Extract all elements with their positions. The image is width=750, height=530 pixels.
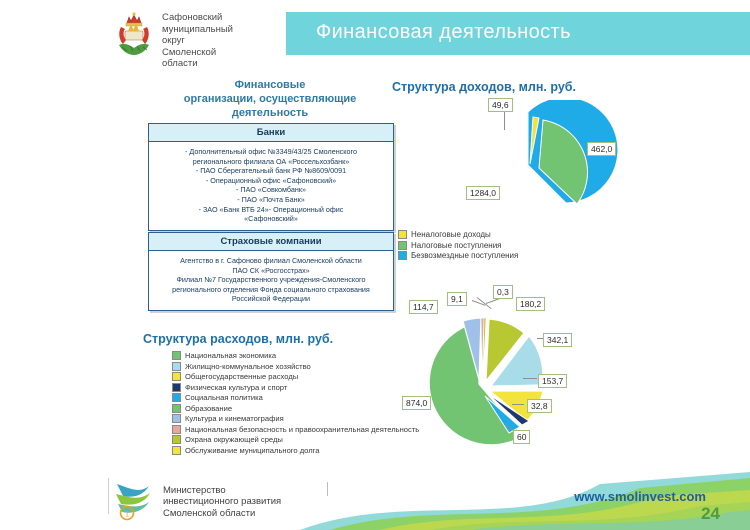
- banks-row: - Операционный офис «Сафоновский»: [153, 176, 389, 186]
- legend-swatch-icon: [172, 435, 181, 444]
- legend-label: Национальная безопасность и правоохранит…: [185, 425, 419, 434]
- insurance-table-body: Агентство в г. Сафоново филиал Смоленско…: [149, 251, 393, 310]
- legend-label: Культура и кинематография: [185, 414, 284, 423]
- insurance-row: регионального отделения Фонда социальног…: [153, 285, 389, 295]
- legend-swatch-icon: [398, 230, 407, 239]
- legend-swatch-icon: [172, 383, 181, 392]
- legend-label: Физическая культура и спорт: [185, 383, 287, 392]
- legend-item: Национальная экономика: [172, 351, 419, 360]
- legend-item: Безвозмездные поступления: [398, 251, 518, 260]
- footer-divider: [108, 478, 109, 514]
- legend-swatch-icon: [172, 446, 181, 455]
- income-chart-legend: Неналоговые доходы Налоговые поступления…: [398, 230, 518, 262]
- ministry-bird-logo-icon: 1: [113, 480, 159, 522]
- legend-label: Охрана окружающей среды: [185, 435, 283, 444]
- page-title: Финансовая деятельность: [316, 21, 571, 44]
- svg-text:1: 1: [125, 510, 129, 519]
- legend-item: Неналоговые доходы: [398, 230, 518, 239]
- expense-value-label-9-1: 9,1: [447, 292, 467, 306]
- legend-label: Национальная экономика: [185, 351, 276, 360]
- expense-value-label-60: 60: [513, 430, 530, 444]
- legend-swatch-icon: [398, 241, 407, 250]
- legend-swatch-icon: [172, 351, 181, 360]
- banks-table-header: Банки: [149, 124, 393, 142]
- slide-root: Сафоновский муниципальный округ Смоленск…: [0, 0, 750, 530]
- fin-head-line-1: Финансовые: [150, 78, 390, 92]
- legend-swatch-icon: [172, 372, 181, 381]
- expense-chart-legend: Национальная экономика Жилищно-коммуналь…: [172, 351, 419, 456]
- banks-table-body: - Дополнительный офис №3349/43/25 Смолен…: [149, 142, 393, 230]
- insurance-row: Российской Федерации: [153, 294, 389, 304]
- insurance-table-header: Страховые компании: [149, 233, 393, 251]
- expense-value-label-153-7: 153,7: [538, 374, 567, 388]
- expense-value-label-180-2: 180,2: [516, 297, 545, 311]
- banks-row: - ЗАО «Банк ВТБ 24»- Операционный офис: [153, 205, 389, 215]
- banks-table: Банки - Дополнительный офис №3349/43/25 …: [148, 123, 394, 231]
- expense-value-label-114-7: 114,7: [409, 300, 438, 314]
- financial-organizations-heading: Финансовые организации, осуществляющие д…: [150, 78, 390, 120]
- slide-title-banner: Финансовая деятельность: [286, 12, 750, 55]
- income-leader-line-yellow: [504, 112, 505, 130]
- organization-title: Сафоновский муниципальный округ Смоленск…: [162, 12, 272, 70]
- org-line-5: области: [162, 58, 272, 70]
- org-line-3: округ: [162, 35, 272, 47]
- expense-leader-line-153-7: [523, 378, 537, 379]
- insurance-row: Филиал №7 Государственного учреждения-См…: [153, 275, 389, 285]
- fin-head-line-3: деятельность: [150, 106, 390, 120]
- banks-row: - ПАО «Совкомбанк»: [153, 185, 389, 195]
- income-value-label-blue: 1284,0: [466, 186, 500, 200]
- page-number: 24: [701, 504, 720, 524]
- insurance-row: ПАО СК «Росгосстрах»: [153, 266, 389, 276]
- legend-label: Налоговые поступления: [411, 241, 502, 250]
- legend-swatch-icon: [398, 251, 407, 260]
- legend-label: Жилищно-коммунальное хозяйство: [185, 362, 311, 371]
- fin-head-line-2: организации, осуществляющие: [150, 92, 390, 106]
- banks-row: регионального филиала ОА «Россельхозбанк…: [153, 157, 389, 167]
- expense-value-label-342-1: 342,1: [543, 333, 572, 347]
- ministry-title: Министерство инвестиционного развития См…: [163, 485, 323, 520]
- legend-swatch-icon: [172, 404, 181, 413]
- legend-item: Физическая культура и спорт: [172, 383, 419, 392]
- ministry-line-2: инвестиционного развития: [163, 496, 323, 508]
- legend-item: Образование: [172, 404, 419, 413]
- org-line-2: муниципальный: [162, 24, 272, 36]
- legend-label: Социальная политика: [185, 393, 263, 402]
- smolensk-coat-of-arms-icon: [113, 10, 155, 62]
- income-pie-chart: [440, 100, 630, 235]
- legend-label: Обслуживание муниципального долга: [185, 446, 320, 455]
- insurance-row: Агентство в г. Сафоново филиал Смоленско…: [153, 256, 389, 266]
- legend-swatch-icon: [172, 362, 181, 371]
- insurance-companies-table: Страховые компании Агентство в г. Сафоно…: [148, 232, 394, 311]
- income-chart-title: Структура доходов, млн. руб.: [392, 80, 576, 94]
- legend-swatch-icon: [172, 393, 181, 402]
- legend-item: Социальная политика: [172, 393, 419, 402]
- legend-item: Охрана окружающей среды: [172, 435, 419, 444]
- banks-row: - ПАО «Почта Банк»: [153, 195, 389, 205]
- income-value-label-yellow: 49,6: [488, 98, 513, 112]
- expense-chart-title: Структура расходов, млн. руб.: [143, 332, 333, 346]
- legend-swatch-icon: [172, 425, 181, 434]
- ministry-line-3: Смоленской области: [163, 508, 323, 520]
- expense-value-label-32-8: 32,8: [527, 399, 552, 413]
- ministry-line-1: Министерство: [163, 485, 323, 497]
- legend-label: Неналоговые доходы: [411, 230, 491, 239]
- banks-row: - Дополнительный офис №3349/43/25 Смолен…: [153, 147, 389, 157]
- legend-label: Безвозмездные поступления: [411, 251, 518, 260]
- expense-value-label-874-0: 874,0: [402, 396, 431, 410]
- legend-item: Жилищно-коммунальное хозяйство: [172, 362, 419, 371]
- banks-row: - ПАО Сберегательный банк РФ №8609/0091: [153, 166, 389, 176]
- legend-item: Обслуживание муниципального долга: [172, 446, 419, 455]
- org-line-1: Сафоновский: [162, 12, 272, 24]
- website-link[interactable]: www.smolinvest.com: [574, 489, 706, 504]
- legend-item: Налоговые поступления: [398, 241, 518, 250]
- banks-row: «Сафоновский»: [153, 214, 389, 224]
- legend-label: Образование: [185, 404, 232, 413]
- income-value-label-green: 462,0: [587, 142, 616, 156]
- legend-label: Общегосударственные расходы: [185, 372, 298, 381]
- org-line-4: Смоленской: [162, 47, 272, 59]
- expense-value-label-0-3: 0,3: [493, 285, 513, 299]
- expense-leader-line-32-8: [512, 404, 524, 405]
- legend-item: Национальная безопасность и правоохранит…: [172, 425, 419, 434]
- footer-divider-secondary: [327, 482, 328, 496]
- legend-swatch-icon: [172, 414, 181, 423]
- legend-item: Культура и кинематография: [172, 414, 419, 423]
- legend-item: Общегосударственные расходы: [172, 372, 419, 381]
